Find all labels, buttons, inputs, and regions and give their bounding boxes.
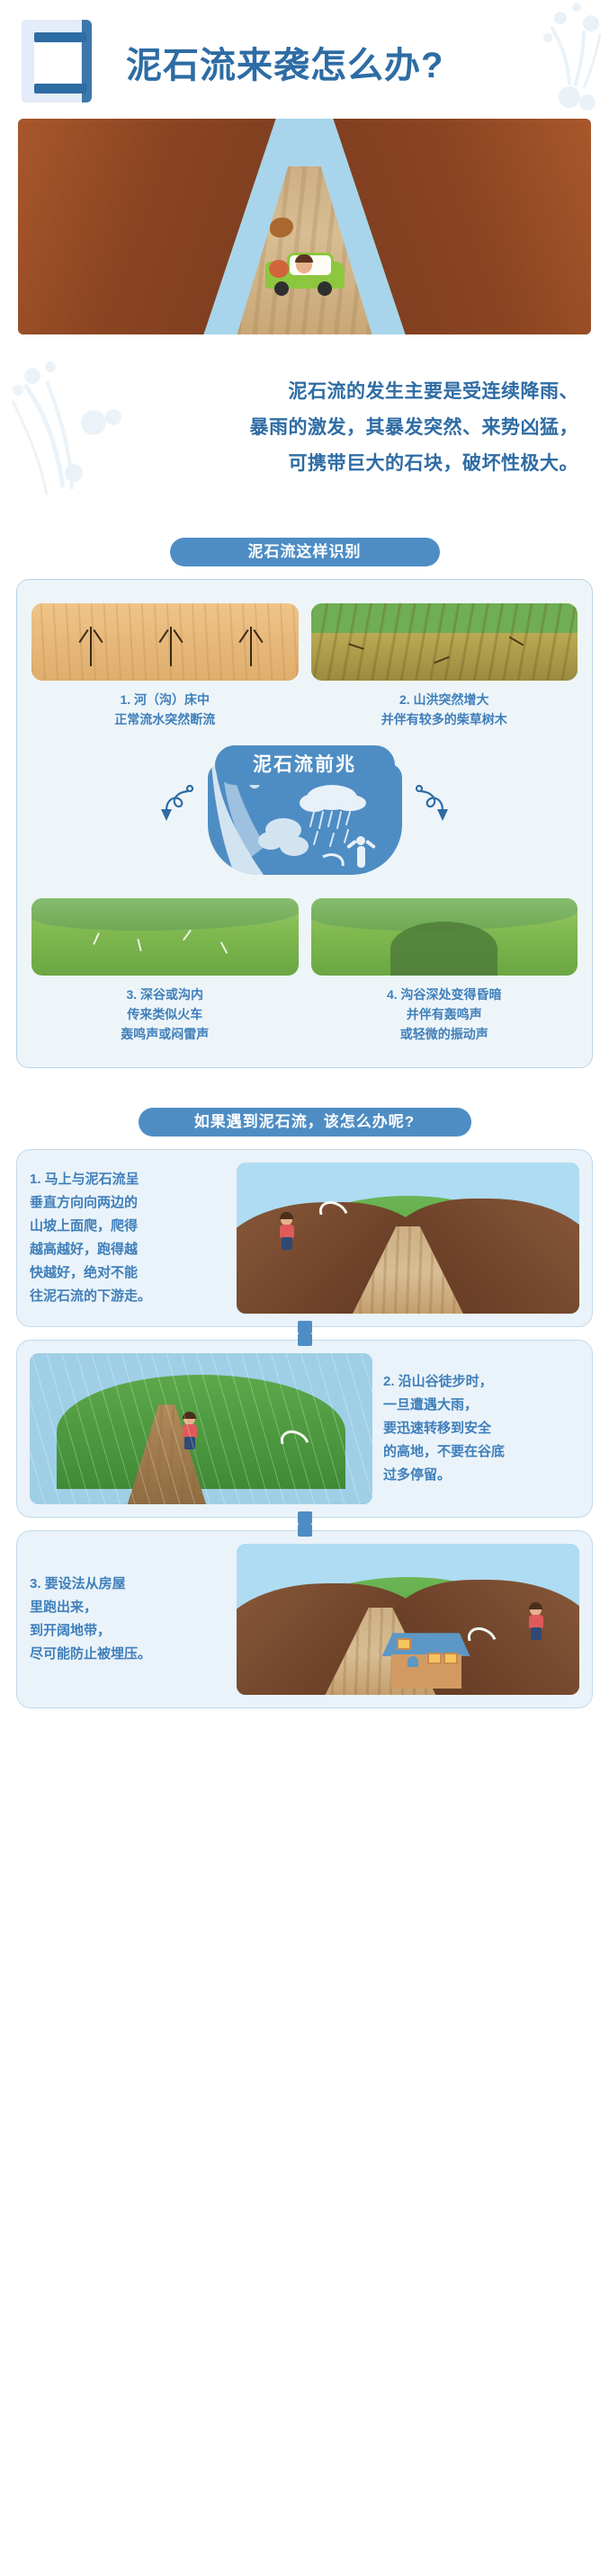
advice-card-1: 1. 马上与泥石流呈 垂直方向向两边的 山坡上面爬，爬得 越高越好，跑得越 快越… xyxy=(16,1149,593,1327)
caption-line: 并伴有较多的柴草树木 xyxy=(311,709,578,729)
advice-line: 过多停留。 xyxy=(383,1464,579,1487)
sound-wave-icon xyxy=(183,930,192,941)
truck-cargo xyxy=(269,260,289,278)
advice-line: 垂直方向向两边的 xyxy=(30,1191,226,1215)
scene-rain-overlay xyxy=(30,1353,372,1504)
advice-line: 的高地，不要在谷底 xyxy=(383,1440,579,1464)
advice-line: 快越好，绝对不能 xyxy=(30,1261,226,1285)
caption-line: 3. 深谷或沟内 xyxy=(31,985,299,1004)
advice-line: 3. 要设法从房屋 xyxy=(30,1573,226,1596)
intro-paragraph: 泥石流的发生主要是受连续降雨、 暴雨的激发，其暴发突然、来势凶猛， 可携带巨大的… xyxy=(22,361,587,500)
caption-line: 4. 沟谷深处变得昏暗 xyxy=(311,985,578,1004)
valley-sound-thumbnail xyxy=(31,898,299,976)
driver-hair xyxy=(295,254,313,263)
identify-section-heading: 泥石流这样识别 xyxy=(170,538,440,566)
card-connector xyxy=(298,1333,312,1346)
identify-item-3: 3. 深谷或沟内 传来类似火车 轰鸣声或闷雷声 xyxy=(31,898,299,1044)
advice-text-3: 3. 要设法从房屋 里跑出来， 到开阔地带， 尽可能防止被埋压。 xyxy=(30,1573,226,1666)
dark-valley-thumbnail xyxy=(311,898,578,976)
person-fleeing-house-illustration xyxy=(237,1544,579,1695)
intro-line-1: 泥石流的发生主要是受连续降雨、 xyxy=(31,374,578,410)
person-climbing-slope-illustration xyxy=(237,1163,579,1314)
advice-line: 2. 沿山谷徒步时， xyxy=(383,1370,579,1394)
intro-line-3: 可携带巨大的石块，破坏性极大。 xyxy=(31,446,578,482)
advice-line: 要迅速转移到安全 xyxy=(383,1417,579,1440)
page-header: 泥石流来袭怎么办? xyxy=(0,0,609,119)
identify-panel: 1. 河（沟）床中 正常流水突然断流 2. 山洪突然增大 并伴有较多的柴草树木 xyxy=(16,579,593,1068)
badge-spine xyxy=(82,20,92,103)
person-hair xyxy=(280,1212,293,1219)
badge-bar-top xyxy=(34,32,86,42)
caption-line: 1. 河（沟）床中 xyxy=(31,690,299,709)
bare-tree-icon xyxy=(90,627,92,666)
identify-item-4: 4. 沟谷深处变得昏暗 并伴有轰鸣声 或轻微的振动声 xyxy=(311,898,578,1044)
person-legs xyxy=(282,1237,292,1250)
advice-card-3: 3. 要设法从房屋 里跑出来， 到开阔地带， 尽可能防止被埋压。 xyxy=(16,1530,593,1708)
debris-twig-icon xyxy=(348,644,364,650)
sound-wave-icon xyxy=(93,932,100,945)
section-number-badge xyxy=(22,20,92,103)
identify-grid-bottom: 3. 深谷或沟内 传来类似火车 轰鸣声或闷雷声 4. 沟谷深处变得昏暗 并伴有轰… xyxy=(31,898,578,1044)
card-connector xyxy=(298,1321,312,1333)
advice-card-2: 2. 沿山谷徒步时， 一旦遭遇大雨， 要迅速转移到安全 的高地，不要在谷底 过多… xyxy=(16,1340,593,1518)
advice-line: 到开阔地带， xyxy=(30,1619,226,1643)
caption-line: 或轻微的振动声 xyxy=(311,1024,578,1044)
identify-item-1: 1. 河（沟）床中 正常流水突然断流 xyxy=(31,603,299,729)
precursor-label: 泥石流前兆 xyxy=(215,745,395,785)
scene-house xyxy=(388,1633,465,1689)
scene-person xyxy=(278,1214,296,1250)
advice-line: 1. 马上与泥石流呈 xyxy=(30,1168,226,1191)
scene-person xyxy=(527,1604,545,1640)
debris-twig-icon xyxy=(434,656,449,664)
identify-caption-1: 1. 河（沟）床中 正常流水突然断流 xyxy=(31,690,299,729)
identify-section: 泥石流这样识别 1. 河（沟）床中 正常流水突然断流 xyxy=(16,538,593,1068)
advice-text-2: 2. 沿山谷徒步时， 一旦遭遇大雨， 要迅速转移到安全 的高地，不要在谷底 过多… xyxy=(383,1370,579,1487)
identify-caption-2: 2. 山洪突然增大 并伴有较多的柴草树木 xyxy=(311,690,578,729)
badge-inner-white xyxy=(34,42,81,89)
house-door xyxy=(407,1656,418,1667)
caption-line: 轰鸣声或闷雷声 xyxy=(31,1024,299,1044)
truck-wheel-rear xyxy=(318,281,332,296)
identify-caption-4: 4. 沟谷深处变得昏暗 并伴有轰鸣声 或轻微的振动声 xyxy=(311,985,578,1044)
hiker-in-rain-illustration xyxy=(30,1353,372,1504)
person-legs xyxy=(531,1627,542,1640)
advice-line: 往泥石流的下游走。 xyxy=(30,1285,226,1308)
advice-section-heading: 如果遇到泥石流，该怎么办呢? xyxy=(139,1108,471,1136)
hero-illustration xyxy=(18,119,591,334)
intro-line-2: 暴雨的激发，其暴发突然、来势凶猛， xyxy=(31,410,578,446)
curly-arrow-right-icon xyxy=(408,780,457,828)
card-connector xyxy=(298,1524,312,1537)
debris-twig-icon xyxy=(509,637,524,646)
card-connector xyxy=(298,1511,312,1524)
truck-wheel-front xyxy=(274,281,289,296)
identify-caption-3: 3. 深谷或沟内 传来类似火车 轰鸣声或闷雷声 xyxy=(31,985,299,1044)
flood-debris-thumbnail xyxy=(311,603,578,681)
house-window xyxy=(427,1653,442,1664)
identify-grid-top: 1. 河（沟）床中 正常流水突然断流 2. 山洪突然增大 并伴有较多的柴草树木 xyxy=(31,603,578,729)
identify-item-2: 2. 山洪突然增大 并伴有较多的柴草树木 xyxy=(311,603,578,729)
advice-line: 越高越好，跑得越 xyxy=(30,1238,226,1261)
sound-wave-icon xyxy=(137,939,141,951)
caption-line: 传来类似火车 xyxy=(31,1004,299,1024)
curly-arrow-left-icon xyxy=(152,780,201,828)
house-window xyxy=(397,1638,411,1650)
advice-line: 山坡上面爬，爬得 xyxy=(30,1215,226,1238)
caption-line: 并伴有轰鸣声 xyxy=(311,1004,578,1024)
caption-line: 2. 山洪突然增大 xyxy=(311,690,578,709)
advice-section: 如果遇到泥石流，该怎么办呢? 1. 马上与泥石流呈 垂直方向向两边的 山坡上面爬… xyxy=(16,1108,593,1708)
intro-text: 泥石流的发生主要是受连续降雨、 暴雨的激发，其暴发突然、来势凶猛， 可携带巨大的… xyxy=(31,374,578,482)
dry-riverbed-thumbnail xyxy=(31,603,299,681)
bare-tree-icon xyxy=(250,627,252,666)
advice-line: 一旦遭遇大雨， xyxy=(383,1394,579,1417)
advice-text-1: 1. 马上与泥石流呈 垂直方向向两边的 山坡上面爬，爬得 越高越好，跑得越 快越… xyxy=(30,1168,226,1308)
precursor-badge-group: 泥石流前兆 xyxy=(31,745,578,880)
person-hair xyxy=(529,1602,542,1609)
badge-bar-bottom xyxy=(34,84,86,94)
caption-line: 正常流水突然断流 xyxy=(31,709,299,729)
advice-line: 里跑出来， xyxy=(30,1596,226,1619)
dark-valley-shadow xyxy=(390,922,497,976)
sound-wave-icon xyxy=(220,942,228,954)
advice-line: 尽可能防止被埋压。 xyxy=(30,1643,226,1666)
house-window xyxy=(443,1653,458,1664)
page-title: 泥石流来袭怎么办? xyxy=(126,36,443,88)
hero-truck xyxy=(265,253,345,296)
bare-tree-icon xyxy=(170,627,172,666)
